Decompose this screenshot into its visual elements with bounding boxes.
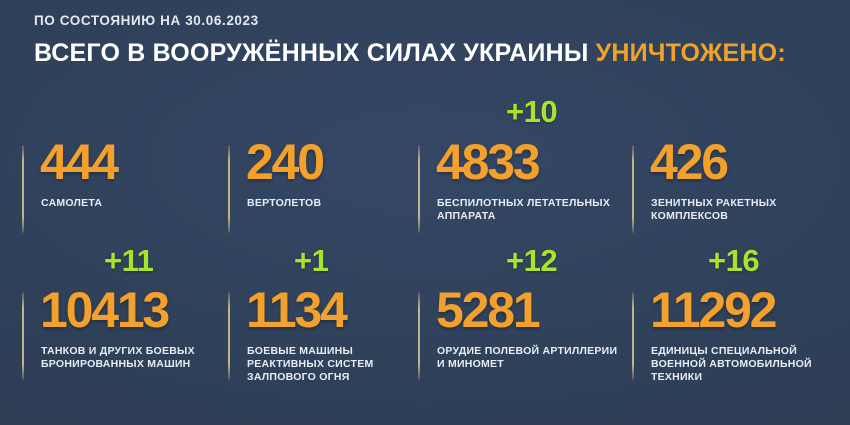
header: ПО СОСТОЯНИЮ НА 30.06.2023 ВСЕГО В ВООРУ… <box>34 14 830 66</box>
page-title: ВСЕГО В ВООРУЖЁННЫХ СИЛАХ УКРАИНЫ УНИЧТО… <box>34 40 830 66</box>
stat-value: 4833 <box>436 137 538 187</box>
stat-cell: +16 11292 ЕДИНИЦЫ СПЕЦИАЛЬНОЙ ВОЕННОЙ АВ… <box>626 243 836 390</box>
stat-label: БОЕВЫЕ МАШИНЫ РЕАКТИВНЫХ СИСТЕМ ЗАЛПОВОГ… <box>247 345 432 384</box>
cell-divider <box>228 292 230 380</box>
stats-grid: 444 САМОЛЕТА 240 ВЕРТОЛЕТОВ +10 4833 БЕС… <box>0 96 850 390</box>
stat-value: 426 <box>650 137 727 187</box>
delta-badge: +16 <box>708 245 759 276</box>
as-of-date: ПО СОСТОЯНИЮ НА 30.06.2023 <box>34 14 830 28</box>
stat-value: 11292 <box>650 285 775 335</box>
stat-cell: +1 1134 БОЕВЫЕ МАШИНЫ РЕАКТИВНЫХ СИСТЕМ … <box>222 243 432 390</box>
stats-row-2: +11 10413 ТАНКОВ И ДРУГИХ БОЕВЫХ БРОНИРО… <box>0 243 850 390</box>
delta-badge: +12 <box>506 245 557 276</box>
cell-divider <box>22 145 24 233</box>
stat-label: ВЕРТОЛЕТОВ <box>247 197 432 210</box>
cell-divider <box>632 292 634 380</box>
stat-cell: +10 4833 БЕСПИЛОТНЫХ ЛЕТАТЕЛЬНЫХ АППАРАТ… <box>412 96 622 243</box>
stat-value: 5281 <box>436 285 538 335</box>
stat-cell: 240 ВЕРТОЛЕТОВ <box>222 96 432 243</box>
stat-cell: +12 5281 ОРУДИЕ ПОЛЕВОЙ АРТИЛЛЕРИИ И МИН… <box>412 243 622 390</box>
cell-divider <box>418 145 420 233</box>
stat-label: ОРУДИЕ ПОЛЕВОЙ АРТИЛЛЕРИИ И МИНОМЕТ <box>437 345 622 371</box>
headline-accent-text: УНИЧТОЖЕНО: <box>596 39 786 67</box>
stats-row-1: 444 САМОЛЕТА 240 ВЕРТОЛЕТОВ +10 4833 БЕС… <box>0 96 850 243</box>
stat-label: ТАНКОВ И ДРУГИХ БОЕВЫХ БРОНИРОВАННЫХ МАШ… <box>41 345 226 371</box>
stat-label: САМОЛЕТА <box>41 197 226 210</box>
cell-divider <box>228 145 230 233</box>
headline-main-text: ВСЕГО В ВООРУЖЁННЫХ СИЛАХ УКРАИНЫ <box>34 39 589 67</box>
cell-divider <box>418 292 420 380</box>
delta-badge: +11 <box>104 245 153 276</box>
infographic-panel: ПО СОСТОЯНИЮ НА 30.06.2023 ВСЕГО В ВООРУ… <box>0 0 850 425</box>
cell-divider <box>632 145 634 233</box>
stat-value: 10413 <box>40 285 168 335</box>
stat-label: ЗЕНИТНЫХ РАКЕТНЫХ КОМПЛЕКСОВ <box>651 197 836 223</box>
stat-cell: 426 ЗЕНИТНЫХ РАКЕТНЫХ КОМПЛЕКСОВ <box>626 96 836 243</box>
stat-cell: +11 10413 ТАНКОВ И ДРУГИХ БОЕВЫХ БРОНИРО… <box>16 243 226 390</box>
delta-badge: +1 <box>294 245 328 276</box>
stat-value: 444 <box>40 137 117 187</box>
delta-badge: +10 <box>506 96 557 127</box>
stat-value: 1134 <box>246 285 346 335</box>
stat-value: 240 <box>246 137 323 187</box>
stat-label: ЕДИНИЦЫ СПЕЦИАЛЬНОЙ ВОЕННОЙ АВТОМОБИЛЬНО… <box>651 345 836 384</box>
stat-cell: 444 САМОЛЕТА <box>16 96 226 243</box>
cell-divider <box>22 292 24 380</box>
stat-label: БЕСПИЛОТНЫХ ЛЕТАТЕЛЬНЫХ АППАРАТА <box>437 197 622 223</box>
